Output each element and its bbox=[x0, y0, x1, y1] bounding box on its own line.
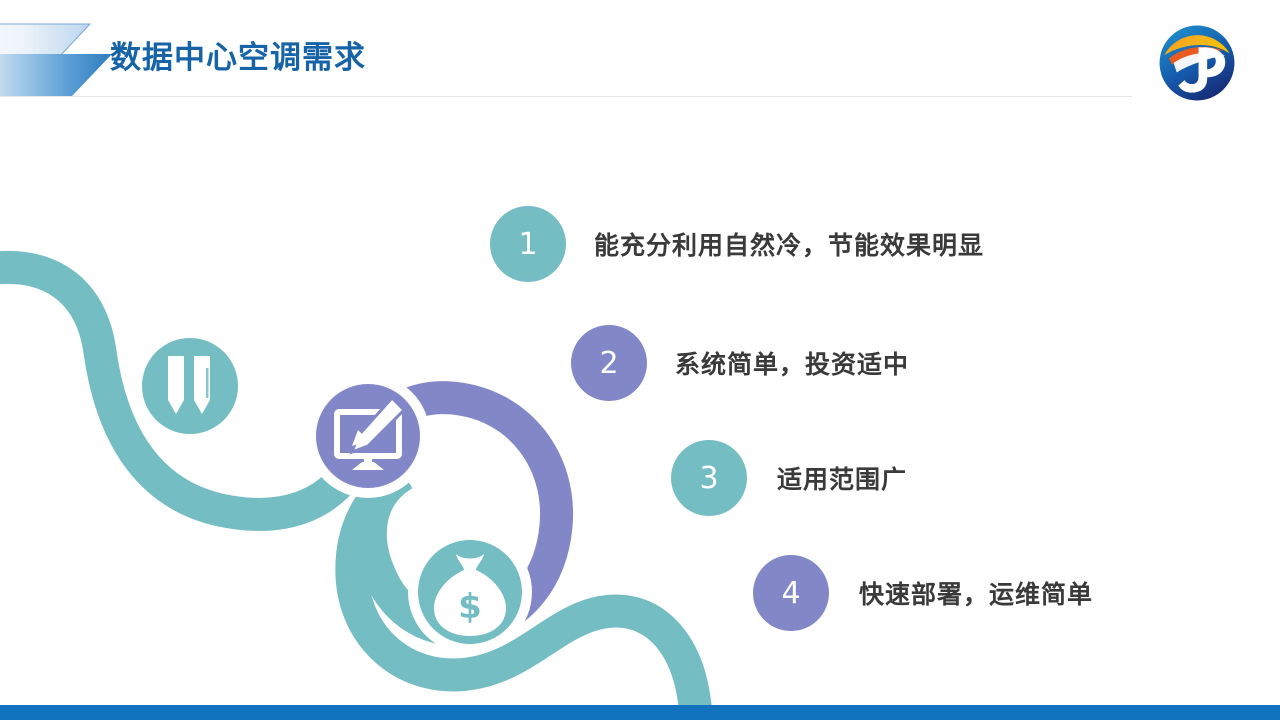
bullet-number-3: 3 bbox=[671, 440, 747, 516]
bullet-label-4: 快速部署，运维简单 bbox=[859, 575, 1093, 611]
bullet-list: 1 能充分利用自然冷，节能效果明显 2 系统简单，投资适中 3 适用范围广 4 … bbox=[0, 0, 1280, 720]
bullet-number-4: 4 bbox=[753, 555, 829, 631]
bullet-item-2[interactable]: 2 系统简单，投资适中 bbox=[571, 325, 909, 401]
bullet-label-1: 能充分利用自然冷，节能效果明显 bbox=[594, 226, 984, 262]
bullet-number-2: 2 bbox=[571, 325, 647, 401]
bullet-item-3[interactable]: 3 适用范围广 bbox=[671, 440, 907, 516]
bullet-item-1[interactable]: 1 能充分利用自然冷，节能效果明显 bbox=[490, 206, 984, 282]
bullet-label-3: 适用范围广 bbox=[777, 460, 907, 496]
bullet-label-2: 系统简单，投资适中 bbox=[675, 345, 909, 381]
bullet-item-4[interactable]: 4 快速部署，运维简单 bbox=[753, 555, 1093, 631]
bottom-accent-bar bbox=[0, 705, 1280, 720]
bullet-number-1: 1 bbox=[490, 206, 566, 282]
slide: 数据中心空调需求 bbox=[0, 0, 1280, 720]
